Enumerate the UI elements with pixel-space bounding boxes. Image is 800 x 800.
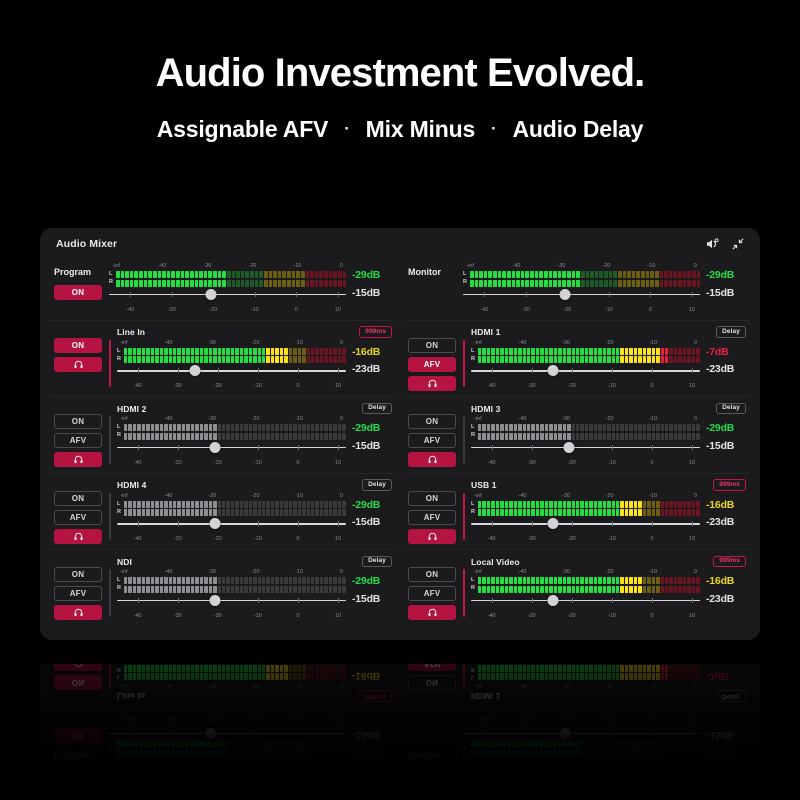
meter-segment	[514, 577, 517, 584]
meter-segment	[632, 280, 636, 287]
afv-button-usb-1[interactable]: AFV	[408, 510, 456, 525]
meter-segment	[177, 586, 180, 593]
meter-segment	[563, 433, 566, 440]
meter-segment	[231, 577, 234, 584]
meter-segment	[683, 577, 686, 584]
meter-segment	[155, 577, 158, 584]
meter-segment	[253, 586, 256, 593]
meter-segment	[607, 356, 610, 363]
on-button-line-in[interactable]: ON	[54, 338, 102, 353]
gain-slider-hdmi-1[interactable]	[471, 366, 700, 382]
meter-segment	[487, 356, 490, 363]
on-button-hdmi-1[interactable]: ON	[408, 676, 456, 691]
meter-segment	[266, 348, 269, 355]
meter-segment	[585, 665, 588, 672]
meter-segment	[222, 509, 225, 516]
meter-segment	[185, 280, 189, 287]
level-meter-local-video: LR	[471, 577, 700, 593]
meter-segment	[509, 665, 512, 672]
meter-segment	[585, 509, 588, 516]
slider-knob[interactable]	[548, 365, 559, 376]
meter-scale-local-video: -inf-40-30-20-100	[471, 569, 700, 577]
headphone-icon	[74, 608, 83, 617]
meter-segment	[544, 271, 548, 278]
meter-segment	[280, 674, 283, 681]
slider-scale-label: -10	[251, 716, 259, 722]
headphone-button-usb-1[interactable]	[408, 529, 456, 544]
meter-segment	[218, 433, 221, 440]
channel-strip-line-in: ONLine In999ms-inf-40-30-20-100LR-40-30-…	[50, 320, 396, 397]
on-button-hdmi-3[interactable]: ON	[408, 414, 456, 429]
meter-segment	[647, 674, 650, 681]
meter-inner-monitor: -inf-40-30-20-100LR-40-30-20-10010	[463, 714, 700, 766]
slider-scale-label: -40	[488, 383, 496, 389]
meter-segment	[275, 674, 278, 681]
headphone-button-hdmi-4[interactable]	[54, 529, 102, 544]
gain-slider-local-video[interactable]	[471, 596, 700, 612]
meter-segment	[311, 348, 314, 355]
meter-segment	[482, 348, 485, 355]
meter-segment	[505, 356, 508, 363]
power-button-program[interactable]: ON	[54, 285, 102, 300]
slider-scale-label: 0	[296, 536, 299, 542]
delay-badge-hdmi-1[interactable]: Delay	[716, 690, 746, 702]
meter-segment	[509, 674, 512, 681]
channel-strip-hdmi-2: ONAFVHDMI 2Delay-inf-40-30-20-100LR-40-3…	[50, 396, 396, 473]
db-readouts-usb-1: -16dB-23dB	[706, 493, 746, 528]
meter-segment	[167, 280, 171, 287]
slider-knob[interactable]	[210, 442, 221, 453]
meter-segment	[169, 501, 172, 508]
meter-segment	[209, 586, 212, 593]
meter-segment	[652, 586, 655, 593]
meter-segment	[250, 750, 254, 757]
meter-segment	[665, 509, 668, 516]
on-button-hdmi-4[interactable]: ON	[54, 491, 102, 506]
meter-segment	[222, 742, 226, 749]
channel-controls-usb-1: ONAFV	[408, 479, 456, 544]
meter-scale-label: -40	[165, 340, 173, 346]
gain-slider-hdmi-4[interactable]	[117, 519, 346, 535]
afv-button-hdmi-4[interactable]: AFV	[54, 510, 102, 525]
meter-segment	[589, 433, 592, 440]
channel-name-usb-1: USB 1	[471, 480, 497, 490]
meter-segment	[572, 577, 575, 584]
slider-knob[interactable]	[189, 365, 200, 376]
meter-segment	[549, 665, 552, 672]
on-button-line-in[interactable]: ON	[54, 676, 102, 691]
channel-body-line-in: Line In999ms-inf-40-30-20-100LR-40-30-20…	[109, 664, 392, 703]
meter-segment	[329, 742, 333, 749]
meter-segment	[613, 742, 617, 749]
meter-segment	[558, 280, 562, 287]
delay-badge-hdmi-1[interactable]: Delay	[716, 326, 746, 338]
on-button-local-video[interactable]: ON	[408, 567, 456, 582]
meter-segment	[607, 424, 610, 431]
meter-bar-left	[116, 750, 346, 757]
delay-badge-hdmi-4[interactable]: Delay	[362, 479, 392, 491]
meter-segment	[558, 742, 562, 749]
meter-segment	[500, 586, 503, 593]
meter-block-program: -inf-40-30-20-100LR-40-30-20-10010-29dB-…	[109, 714, 392, 766]
meter-scale-hdmi-4: -inf-40-30-20-100	[117, 493, 346, 501]
meter-segment	[613, 271, 617, 278]
slider-scale-label: 0	[649, 307, 652, 313]
afv-button-local-video[interactable]: AFV	[408, 586, 456, 601]
gain-slider-hdmi-3[interactable]	[471, 443, 700, 459]
gain-slider-line-in[interactable]	[117, 366, 346, 382]
meter-segment	[530, 271, 534, 278]
meter-segment	[262, 501, 265, 508]
channel-body-program: -inf-40-30-20-100LR-40-30-20-10010-29dB-…	[109, 714, 392, 766]
meter-segment	[315, 356, 318, 363]
meter-segment	[580, 356, 583, 363]
db-readouts-monitor: -29dB-15dB	[706, 730, 746, 765]
meter-segment	[142, 433, 145, 440]
meter-inner-line-in: -inf-40-30-20-100LR-40-30-20-10010	[117, 664, 346, 689]
slider-knob[interactable]	[548, 518, 559, 529]
on-button-hdmi-2[interactable]: ON	[54, 414, 102, 429]
slider-knob[interactable]	[564, 442, 575, 453]
meter-segment	[324, 280, 328, 287]
meter-scale-label: -30	[562, 683, 570, 689]
meter-segment	[687, 742, 691, 749]
meter-block-monitor: -inf-40-30-20-100LR-40-30-20-10010-29dB-…	[463, 714, 746, 766]
delay-badge-usb-1[interactable]: 999ms	[713, 479, 746, 491]
meter-segment	[164, 665, 167, 672]
meter-scale-label: -40	[512, 759, 520, 765]
meter-segment	[613, 280, 617, 287]
meter-segment	[153, 750, 157, 757]
meter-segment	[545, 665, 548, 672]
meter-segment	[213, 280, 217, 287]
meter-scale-label: -10	[647, 263, 655, 269]
meter-segment	[342, 348, 345, 355]
gain-slider-program[interactable]	[109, 723, 346, 739]
slider-tick	[692, 445, 693, 450]
meter-segment	[531, 665, 534, 672]
meter-segment	[646, 280, 650, 287]
channel-header-line-in: Line In999ms	[117, 690, 392, 703]
meter-bar-right	[478, 586, 700, 593]
meter-scale-hdmi-1: -inf-40-30-20-100	[471, 340, 700, 348]
meter-segment	[549, 674, 552, 681]
slider-tick	[138, 368, 139, 373]
meter-segment	[484, 750, 488, 757]
meter-scale-label: -40	[158, 263, 166, 269]
meter-segment	[213, 509, 216, 516]
slider-scale-label: -10	[251, 307, 259, 313]
on-button-ndi[interactable]: ON	[54, 567, 102, 582]
afv-button-hdmi-3[interactable]: AFV	[408, 433, 456, 448]
on-button-usb-1[interactable]: ON	[408, 491, 456, 506]
meter-segment	[625, 674, 628, 681]
gain-slider-ndi[interactable]	[117, 596, 346, 612]
meter-segment	[249, 665, 252, 672]
meter-segment	[255, 271, 259, 278]
meter-segment	[307, 356, 310, 363]
meter-segment	[280, 577, 283, 584]
meter-segment	[620, 665, 623, 672]
meter-segment	[298, 356, 301, 363]
meter-segment	[342, 586, 345, 593]
meter-segment	[226, 586, 229, 593]
gain-slider-program[interactable]	[109, 290, 346, 306]
meter-segment	[169, 577, 172, 584]
meter-segment	[627, 750, 631, 757]
meter-segment	[678, 509, 681, 516]
headphone-button-local-video[interactable]	[408, 605, 456, 620]
meter-segment	[333, 742, 337, 749]
meter-segment	[137, 586, 140, 593]
meter-segment	[235, 577, 238, 584]
meter-segment	[558, 509, 561, 516]
meter-segment	[342, 501, 345, 508]
meter-segment	[567, 271, 571, 278]
headphone-button-line-in[interactable]	[54, 357, 102, 372]
meter-segment	[576, 586, 579, 593]
headphone-button-ndi[interactable]	[54, 605, 102, 620]
gain-slider-usb-1[interactable]	[471, 519, 700, 535]
slider-scale-label: 0	[650, 383, 653, 389]
meter-segment	[589, 356, 592, 363]
collapse-icon[interactable]	[732, 778, 744, 790]
slider-track	[471, 600, 700, 602]
meter-segment	[130, 742, 134, 749]
meter-segment	[289, 348, 292, 355]
meter-segment	[181, 280, 185, 287]
channel-controls-program: ProgramON	[54, 263, 102, 300]
meter-segment	[307, 501, 310, 508]
meter-segment	[661, 424, 664, 431]
delay-badge-line-in[interactable]: 999ms	[359, 690, 392, 702]
slider-tick	[338, 732, 339, 737]
channel-name-hdmi-1: HDMI 1	[471, 691, 500, 701]
channel-strip-local-video: ONAFVLocal Video999ms-inf-40-30-20-100LR…	[404, 549, 750, 626]
meter-segment	[482, 356, 485, 363]
slider-scale-label: -40	[126, 307, 134, 313]
slider-knob[interactable]	[210, 518, 221, 529]
headphone-button-line-in[interactable]	[54, 664, 102, 672]
channel-strip-hdmi-3: ONAFVHDMI 3Delay-inf-40-30-20-100LR-40-3…	[404, 396, 750, 473]
collapse-icon[interactable]	[732, 238, 744, 250]
meter-segment	[262, 586, 265, 593]
delay-badge-line-in[interactable]: 999ms	[359, 326, 392, 338]
slider-knob[interactable]	[210, 595, 221, 606]
meter-segment	[142, 586, 145, 593]
channel-controls-hdmi-3: ONAFV	[408, 402, 456, 467]
meter-segment	[298, 348, 301, 355]
slider-scale-label: 0	[650, 460, 653, 466]
meter-segment	[646, 271, 650, 278]
meter-segment	[652, 424, 655, 431]
slider-scale-label: 10	[689, 716, 695, 722]
meter-segment	[173, 674, 176, 681]
meter-segment	[656, 665, 659, 672]
meter-scale-label: -10	[649, 683, 657, 689]
meter-segment	[567, 750, 571, 757]
meter-segment	[553, 742, 557, 749]
meter-segment	[643, 674, 646, 681]
meter-segment	[527, 356, 530, 363]
meter-segment	[338, 674, 341, 681]
meter-segment	[253, 577, 256, 584]
meter-segment	[567, 433, 570, 440]
meter-segment	[146, 433, 149, 440]
meter-scale-monitor: -inf-40-30-20-100	[463, 757, 700, 765]
meter-segment	[598, 501, 601, 508]
meter-segment	[518, 424, 521, 431]
meter-segment	[151, 501, 154, 508]
volume-icon[interactable]	[706, 238, 719, 250]
meter-segment	[487, 433, 490, 440]
meter-segment	[482, 424, 485, 431]
meter-segment	[652, 674, 655, 681]
meter-segment	[218, 271, 222, 278]
headphone-button-hdmi-1[interactable]	[408, 376, 456, 391]
meter-segment	[146, 674, 149, 681]
meter-segment	[603, 501, 606, 508]
afv-button-ndi[interactable]: AFV	[54, 586, 102, 601]
meter-segment	[660, 750, 664, 757]
db-gain-readout: -15dB	[352, 594, 380, 605]
meter-segment	[167, 742, 171, 749]
slider-knob[interactable]	[205, 729, 216, 740]
meter-segment	[266, 586, 269, 593]
meter-segment	[595, 750, 599, 757]
volume-icon[interactable]	[706, 778, 719, 790]
meter-scale-monitor: -inf-40-30-20-100	[463, 263, 700, 271]
gain-slider-monitor[interactable]	[463, 723, 700, 739]
slider-tick	[298, 598, 299, 603]
meter-segment	[491, 356, 494, 363]
slider-scale-label: 0	[650, 536, 653, 542]
slider-knob[interactable]	[559, 289, 570, 300]
channel-name-ndi: NDI	[117, 557, 132, 567]
slider-track	[471, 447, 700, 449]
meter-segment	[678, 424, 681, 431]
meter-segment	[558, 586, 561, 593]
delay-badge-ndi[interactable]: Delay	[362, 556, 392, 568]
header-icon-group	[706, 778, 744, 790]
meter-segment	[661, 433, 664, 440]
meter-segment	[343, 750, 347, 757]
meter-segment	[527, 348, 530, 355]
slider-scale-label: -20	[568, 383, 576, 389]
meter-segment	[589, 509, 592, 516]
meter-segment	[177, 433, 180, 440]
meter-segment	[164, 424, 167, 431]
meter-segment	[531, 424, 534, 431]
meter-segment	[278, 750, 282, 757]
meter-segment	[580, 348, 583, 355]
meter-bar-right	[478, 433, 700, 440]
slider-scale-label: -20	[568, 460, 576, 466]
level-meter-hdmi-4: LR	[117, 501, 346, 517]
meter-segment	[652, 509, 655, 516]
meter-segment	[572, 424, 575, 431]
meter-segment	[125, 280, 129, 287]
meter-segment	[627, 271, 631, 278]
mixer-header: Audio Mixer	[40, 770, 760, 800]
meter-segment	[204, 424, 207, 431]
meter-segment	[674, 674, 677, 681]
meter-segment	[169, 586, 172, 593]
meter-segment	[190, 271, 194, 278]
meter-segment	[324, 750, 328, 757]
gain-slider-monitor[interactable]	[463, 290, 700, 306]
meter-segment	[249, 424, 252, 431]
slider-scale-label: 10	[335, 307, 341, 313]
channel-header-local-video: Local Video999ms	[471, 555, 746, 568]
meter-segment	[558, 665, 561, 672]
meter-segment	[643, 356, 646, 363]
meter-segment	[687, 586, 690, 593]
meter-segment	[687, 750, 691, 757]
meter-segment	[618, 280, 622, 287]
meter-segment	[598, 348, 601, 355]
meter-segment	[581, 271, 585, 278]
afv-button-hdmi-1[interactable]: AFV	[408, 664, 456, 672]
meter-segment	[598, 577, 601, 584]
delay-badge-hdmi-2[interactable]: Delay	[362, 403, 392, 415]
slider-knob[interactable]	[205, 289, 216, 300]
db-readouts-local-video: -16dB-23dB	[706, 569, 746, 604]
headphone-button-hdmi-2[interactable]	[54, 452, 102, 467]
meter-segment	[306, 280, 310, 287]
meter-segment	[195, 271, 199, 278]
meter-segment	[493, 750, 497, 757]
meter-segment	[182, 348, 185, 355]
meter-segment	[536, 509, 539, 516]
power-button-program[interactable]: ON	[54, 728, 102, 743]
gain-slider-hdmi-2[interactable]	[117, 443, 346, 459]
slider-tick	[255, 292, 256, 297]
meter-segment	[200, 665, 203, 672]
meter-scale-hdmi-2: -inf-40-30-20-100	[117, 416, 346, 424]
meter-segment	[302, 424, 305, 431]
afv-button-hdmi-2[interactable]: AFV	[54, 433, 102, 448]
meter-segment	[572, 665, 575, 672]
master-label-program: Program	[54, 751, 102, 761]
slider-knob[interactable]	[548, 595, 559, 606]
delay-badge-hdmi-3[interactable]: Delay	[716, 403, 746, 415]
meter-segment	[696, 509, 699, 516]
slider-knob[interactable]	[559, 729, 570, 740]
meter-segment	[186, 348, 189, 355]
header-icon-group	[706, 238, 744, 250]
meter-segment	[271, 348, 274, 355]
slider-scale-label: -30	[174, 460, 182, 466]
meter-segment	[665, 586, 668, 593]
meter-segment	[158, 280, 162, 287]
meter-segment	[222, 674, 225, 681]
meter-segment	[523, 665, 526, 672]
db-gain-readout: -15dB	[706, 441, 734, 452]
meter-segment	[576, 356, 579, 363]
delay-badge-local-video[interactable]: 999ms	[713, 556, 746, 568]
meter-segment	[209, 424, 212, 431]
meter-segment	[634, 577, 637, 584]
meter-segment	[342, 356, 345, 363]
meter-segment	[320, 665, 323, 672]
on-button-hdmi-1[interactable]: ON	[408, 338, 456, 353]
afv-button-hdmi-1[interactable]: AFV	[408, 357, 456, 372]
meter-segment	[540, 356, 543, 363]
slider-tick	[612, 368, 613, 373]
meter-segment	[562, 742, 566, 749]
headphone-button-hdmi-3[interactable]	[408, 452, 456, 467]
